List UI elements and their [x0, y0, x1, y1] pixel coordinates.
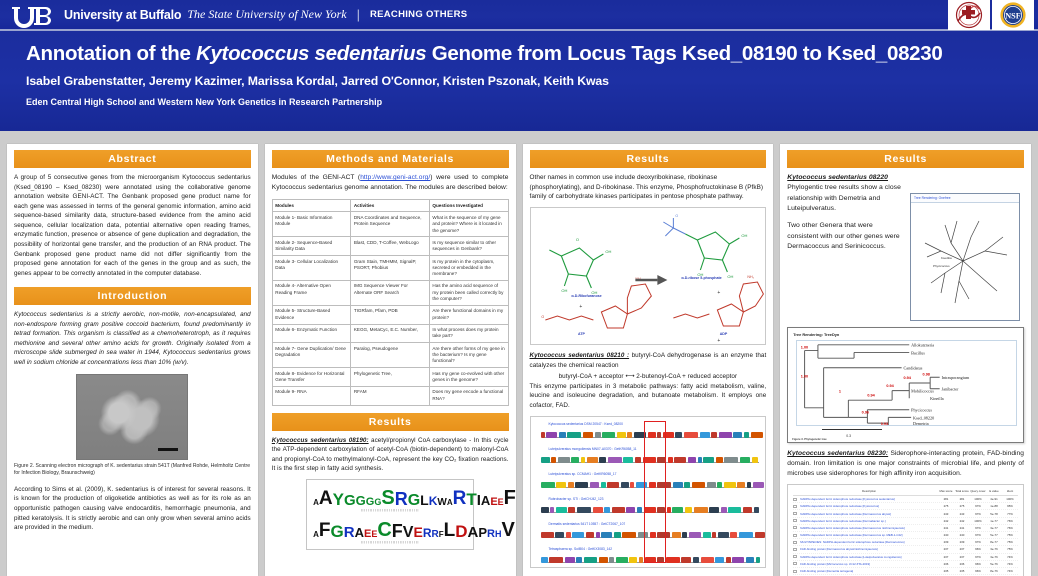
gene-arrow-glyph	[756, 557, 760, 563]
blast-row-checkbox[interactable]	[793, 570, 797, 573]
weblogo-letter: S	[381, 490, 394, 506]
poster-columns: Abstract A group of 5 consecutive genes …	[0, 137, 1038, 576]
gene-arrow-glyph	[728, 507, 741, 513]
table-row: Module 5- Structure-Based EvidenceTIGRfa…	[272, 305, 508, 324]
blast-value: 100%	[970, 497, 986, 501]
nsf-logo: NSF	[992, 0, 1034, 30]
table-cell: Does my gene encode a functional RNA?	[429, 386, 508, 405]
gene-arrow-glyph	[716, 457, 723, 463]
blast-value: 4e-91	[986, 497, 1002, 501]
gene-arrow-glyph	[556, 482, 566, 488]
blast-value: 237	[938, 547, 954, 551]
blast-col-query-cover: Query cover	[970, 489, 986, 493]
gene-arrow-glyph	[568, 482, 574, 488]
table-row: Module 1- Basic Information ModuleDNA Co…	[272, 212, 508, 237]
blast-value: 240	[954, 533, 970, 537]
svg-text:O: O	[575, 237, 578, 242]
blast-value: 76%	[1002, 519, 1018, 523]
section-heading-methods: Methods and Materials	[272, 150, 509, 168]
gene-08230-label: Kytococcus sedentarius 08230:	[787, 450, 888, 457]
blast-value: 3e-77	[986, 526, 1002, 530]
tree-bootstrap-1: 1.00	[801, 374, 808, 378]
gene-arrow-glyph	[724, 457, 738, 463]
geni-act-link[interactable]: http://www.geni-act.org/	[360, 174, 430, 181]
gene-arrow-glyph	[684, 482, 690, 488]
gene-arrow-glyph	[744, 432, 749, 438]
unrooted-tree-svg: Kseditia Phycicoccus	[911, 203, 1019, 313]
gene-arrow-glyph	[616, 557, 628, 563]
gene-arrow-glyph	[739, 532, 753, 538]
blast-value: 242	[938, 519, 954, 523]
blast-description-link[interactable]: FAD-binding protein [Micrococcus sp. JC1…	[800, 562, 938, 566]
gene-arrow-glyph	[715, 557, 724, 563]
chem-label-atp: ATP	[567, 332, 597, 336]
gene-arrow-glyph	[614, 532, 621, 538]
gene-arrow-glyph	[712, 532, 716, 538]
methods-intro-pre: Modules of the GENI-ACT (	[272, 174, 360, 181]
gene-arrow-glyph	[698, 457, 702, 463]
unrooted-tree-caption: Tree Rendering: Onefree	[911, 194, 1019, 203]
modules-table: Modules Activities Questions Investigate…	[272, 199, 509, 406]
tree-bootstrap-2: 1	[839, 390, 841, 394]
table-cell: Module 5- Structure-Based Evidence	[272, 305, 351, 324]
gene-arrow-glyph	[541, 482, 555, 488]
blast-result-row[interactable]: MULTISPECIES: NADPH-dependent ferric sid…	[793, 539, 1018, 546]
gene-arrow-glyph	[629, 557, 637, 563]
gene-neighborhood-organism: Luteipulveratus mongoliensis MN07-A0370 …	[549, 447, 637, 451]
blast-description-link[interactable]: FAD-binding protein [Demetria terragena]	[800, 569, 938, 573]
chem-label-ribose5p: α-D-ribose 5-phosphate	[657, 276, 747, 280]
blast-description-link[interactable]: NADPH-dependent ferric siderophore reduc…	[800, 555, 938, 559]
blast-result-row[interactable]: FAD-binding protein [Demetria terragena]…	[793, 568, 1018, 575]
tree-leaf-1: Bacillus	[911, 350, 925, 355]
ribokinase-intro: Other names in common use include deoxyr…	[530, 173, 767, 202]
blast-result-row[interactable]: FAD-binding protein [Micrococcus sp. JC1…	[793, 561, 1018, 568]
weblogo-letter: G	[366, 498, 375, 507]
poster-root: University at Buffalo The State Universi…	[0, 0, 1038, 576]
table-row: Module 6- Enzymatic FunctionKEGG, MetaCy…	[272, 324, 508, 343]
gene-arrow-glyph	[701, 557, 714, 563]
gene-arrow-glyph	[672, 507, 683, 513]
weblogo-letter: F	[392, 524, 403, 539]
unrooted-leaf-label-a: Kseditia	[941, 256, 952, 260]
blast-result-row[interactable]: NADPH-dependent ferric siderophore reduc…	[793, 518, 1018, 525]
plus-sign-left: +	[579, 304, 582, 310]
campaign-label: REACHING OTHERS	[370, 9, 467, 20]
blast-value: 75%	[1002, 533, 1018, 537]
weblogo-letter: G	[331, 525, 344, 539]
table-row: Module 2- Sequence-Based Similarity Data…	[272, 237, 508, 256]
poster-title-block: Annotation of the Kytococcus sedentarius…	[0, 31, 1038, 131]
blast-value: 275	[938, 504, 954, 508]
tree-leaf-8: Ksed_08220	[913, 415, 934, 420]
gene-arrow-glyph	[593, 507, 603, 513]
gene-arrow-glyph	[586, 532, 594, 538]
weblogo-letter: K	[429, 497, 438, 507]
blast-result-row[interactable]: NADPH-dependent ferric siderophore reduc…	[793, 510, 1018, 517]
gene-arrow-glyph	[595, 432, 601, 438]
blast-value: 240	[938, 533, 954, 537]
rooted-tree-svg: Allokutzneria Bacillus Candidatus Mobili…	[797, 341, 1016, 425]
table-row: Module 9- RNARFAMDoes my gene encode a f…	[272, 386, 508, 405]
gene-arrow-glyph	[581, 457, 585, 463]
weblogo-sequence-2: AFGRAEECFVERRFLDAPRHVETQCLADIHGNVV	[313, 517, 467, 539]
blast-value: 3e-76	[986, 547, 1002, 551]
blast-description-link[interactable]: NADPH-dependent ferric siderophore reduc…	[800, 512, 938, 516]
gene-arrow-glyph	[601, 532, 612, 538]
table-cell: Module 4- Alternative Open Reading Frame	[272, 280, 351, 305]
tree-leaf-0: Allokutzneria	[911, 343, 934, 348]
gene-arrow-glyph	[602, 432, 615, 438]
gene-arrow-glyph	[707, 482, 716, 488]
weblogo-letter: F	[504, 490, 516, 506]
rooted-tree-title: Tree Rendering: TreeDyn	[793, 332, 1018, 337]
weblogo-letter: R	[423, 529, 432, 539]
gene-08190-label: Kytococcus sedentarius 08190:	[272, 437, 369, 444]
blast-value: 8e-77	[986, 540, 1002, 544]
blast-value: 97%	[970, 504, 986, 508]
table-cell: Module 3- Cellular Localization Data	[272, 256, 351, 281]
gene-arrow-glyph	[709, 507, 719, 513]
blast-table-header: Description Max score Total score Query …	[793, 489, 1018, 496]
blast-value: 239	[938, 540, 954, 544]
section-heading-introduction: Introduction	[14, 287, 251, 305]
gene-arrow-glyph	[689, 532, 701, 538]
table-cell: KEGG, MetaCyc, E.C. Number,	[351, 324, 430, 343]
tree-leaf-2: Candidatus	[904, 366, 923, 371]
blast-value: 97%	[970, 540, 986, 544]
tree-leaf-3: Mobilicoccus	[911, 389, 934, 394]
blast-result-row[interactable]: NADPH-dependent ferric siderophore reduc…	[793, 503, 1018, 510]
table-row: Module 3- Cellular Localization DataGram…	[272, 256, 508, 281]
weblogo-letter: R	[487, 530, 495, 539]
table-cell: Is my sequence similar to other sequence…	[429, 237, 508, 256]
blast-value: 241	[938, 526, 954, 530]
gene-arrow-glyph	[703, 457, 714, 463]
svg-text:O: O	[675, 214, 678, 218]
sem-micrograph-image	[76, 374, 188, 460]
blast-value: 237	[954, 555, 970, 559]
weblogo-figure: AAYGGGGSRGLKWARTIAEEFIPELFRSANREAVI ||||…	[306, 479, 474, 550]
blast-value: 97%	[970, 555, 986, 559]
blast-result-row[interactable]: NADPH-dependent ferric siderophore reduc…	[793, 496, 1018, 503]
weblogo-letter: T	[466, 493, 476, 507]
gene-08210-text2: This enzyme participates in 3 metabolic …	[530, 382, 767, 411]
gene-arrow-glyph	[609, 557, 614, 563]
gene-arrow-glyph	[668, 457, 673, 463]
weblogo-sequence-1: AAYGGGGSRGLKWARTIAEEFIPELFRSANREAVI	[313, 485, 467, 507]
weblogo-letter: V	[501, 522, 514, 538]
table-row: Module 8- Evidence for Horizontal Gene T…	[272, 368, 508, 387]
table-cell: What is the sequence of my gene and prot…	[429, 212, 508, 237]
weblogo-letter: D	[455, 525, 467, 539]
tree-scale-bar	[822, 429, 882, 430]
weblogo-letter: Y	[333, 493, 344, 507]
weblogo-letter: A	[468, 527, 479, 539]
section-heading-abstract: Abstract	[14, 150, 251, 168]
sem-figure: Figure 2. Scanning electron micrograph o…	[14, 374, 251, 478]
table-cell: Module 8- Evidence for Horizontal Gene T…	[272, 368, 351, 387]
blast-value: 243	[954, 512, 970, 516]
blast-value: 239	[954, 540, 970, 544]
gene-arrow-glyph	[667, 507, 671, 513]
gene-arrow-glyph	[571, 457, 579, 463]
gene-highlight-box	[644, 421, 666, 563]
blast-row-checkbox[interactable]	[793, 519, 797, 522]
blast-row-checkbox[interactable]	[793, 512, 797, 515]
blast-value: 96%	[970, 562, 986, 566]
gene-08210-reaction: butyryl-CoA + acceptor ⟷ 2-butenoyl-CoA …	[530, 372, 767, 382]
table-row: Module 4- Alternative Open Reading Frame…	[272, 280, 508, 305]
blast-value: 1e-88	[986, 504, 1002, 508]
svg-text:NH₂: NH₂	[747, 275, 754, 279]
blast-value: 75%	[1002, 540, 1018, 544]
gene-neighborhood-organism: Tetrasphaera sp. Soil504 : GetKX3083_142	[549, 547, 613, 551]
blast-value: 235	[954, 569, 970, 573]
gene-arrow-glyph	[681, 557, 691, 563]
blast-description-link[interactable]: MULTISPECIES: NADPH-dependent ferric sid…	[800, 540, 938, 544]
blast-value: 5e-77	[986, 533, 1002, 537]
gene-arrow-glyph	[608, 457, 622, 463]
gene-arrow-glyph	[604, 507, 610, 513]
tree-leaf-5: Janibacter	[942, 387, 960, 392]
blast-value: 235	[938, 569, 954, 573]
blast-value: 95%	[1002, 504, 1018, 508]
gene-arrow-glyph	[717, 482, 722, 488]
table-cell: Module 7- Gene Duplication/ Gene Degrada…	[272, 343, 351, 368]
col-header-activities: Activities	[351, 200, 430, 212]
gene-arrow-glyph	[576, 557, 582, 563]
blast-value: 100%	[970, 519, 986, 523]
gene-arrow-glyph	[567, 432, 581, 438]
gene-arrow-glyph	[674, 457, 686, 463]
blast-description-link[interactable]: NADPH-dependent ferric siderophore reduc…	[800, 526, 938, 530]
blast-col-ident: Ident	[1002, 489, 1018, 493]
blast-description-link[interactable]: NADPH-dependent ferric siderophore reduc…	[800, 519, 938, 523]
gene-arrow-glyph	[559, 432, 566, 438]
gene-arrow-glyph	[541, 432, 545, 438]
table-cell: Has the amino acid sequence of my protei…	[429, 280, 508, 305]
table-cell: Module 9- RNA	[272, 386, 351, 405]
gene-arrow-glyph	[737, 482, 745, 488]
tree-scale-value: 0.3	[846, 434, 851, 438]
weblogo-letter: G	[408, 494, 420, 507]
gene-arrow-glyph	[673, 482, 683, 488]
blast-value: 236	[938, 562, 954, 566]
tree-leaf-7: Phycicoccus	[911, 408, 932, 413]
blast-value: 242	[954, 519, 970, 523]
gene-arrow-glyph	[732, 557, 744, 563]
gene-arrow-glyph	[617, 432, 626, 438]
gene-arrow-glyph	[682, 532, 687, 538]
university-header-bar: University at Buffalo The State Universi…	[0, 0, 1038, 31]
blast-value: 74%	[1002, 562, 1018, 566]
blast-result-row[interactable]: NADPH-dependent ferric siderophore reduc…	[793, 554, 1018, 561]
tree-leaf-4: Intrasporangium	[942, 375, 970, 380]
table-cell: Paralog, Pseudogene	[351, 343, 430, 368]
weblogo-letter: E	[490, 498, 497, 507]
gene-neighborhood-organism: Dermatis sedentarius 541T 10557 : GetCT2…	[549, 522, 626, 526]
university-name: University at Buffalo	[64, 8, 181, 22]
blast-value: 281	[938, 497, 954, 501]
gene-arrow-glyph	[541, 507, 549, 513]
gene-arrow-glyph	[575, 482, 588, 488]
gene-08190-description: Kytococcus sedentarius 08190: acetyl/pro…	[272, 436, 509, 474]
blast-row-checkbox[interactable]	[793, 548, 797, 551]
blast-description-link[interactable]: NADPH-dependent ferric siderophore reduc…	[800, 504, 938, 508]
blast-row-checkbox[interactable]	[793, 534, 797, 537]
table-cell: Are there functional domains in my prote…	[429, 305, 508, 324]
gene-arrow-glyph	[692, 482, 705, 488]
blast-value: 5e-78	[986, 512, 1002, 516]
table-cell: Is my protein in the cytoplasm, secreted…	[429, 256, 508, 281]
weblogo-axis-2: |||||||||||||||||||||||||||||||||	[313, 541, 467, 544]
figure-caption-2: Figure 2. Scanning electron micrograph o…	[14, 463, 251, 478]
introduction-paragraph-2: According to Sims et al. (2009), K. sede…	[14, 485, 251, 533]
weblogo-letter: R	[453, 491, 467, 507]
gene-arrow-glyph	[666, 557, 680, 563]
blast-value: 74%	[1002, 555, 1018, 559]
gene-arrow-glyph	[755, 532, 765, 538]
tree-leaf-9: Demetria	[913, 421, 929, 425]
weblogo-letter: E	[413, 527, 422, 538]
table-cell: Module 1- Basic Information Module	[272, 212, 351, 237]
section-heading-results-col4: Results	[787, 150, 1024, 168]
gene-arrow-glyph	[541, 457, 550, 463]
blast-result-row[interactable]: NADPH-dependent ferric siderophore reduc…	[793, 525, 1018, 532]
blast-row-checkbox[interactable]	[793, 526, 797, 529]
table-cell: Module 6- Enzymatic Function	[272, 324, 351, 343]
col-header-questions: Questions Investigated	[429, 200, 508, 212]
blast-value: 96%	[970, 569, 986, 573]
table-cell: IMG Sequence Viewer For Alternate ORF Se…	[351, 280, 430, 305]
gene-arrow-glyph	[599, 457, 606, 463]
blast-value: 236	[954, 562, 970, 566]
gene-arrow-glyph	[596, 532, 600, 538]
weblogo-letter: L	[444, 523, 456, 539]
abstract-text: A group of 5 consecutive genes from the …	[14, 173, 251, 278]
gene-arrow-glyph	[587, 457, 598, 463]
gene-arrow-glyph	[565, 557, 575, 563]
tree-bootstrap-4: 0.94	[887, 384, 895, 388]
column-methods-materials: Methods and Materials Modules of the GEN…	[265, 144, 516, 576]
title-organism: Kytococcus sedentarius	[196, 42, 426, 65]
blast-value: 281	[954, 497, 970, 501]
gene-arrow-glyph	[621, 482, 629, 488]
chem-label-ribofuranose: α-D-Ribofuranose	[553, 294, 621, 298]
svg-text:OH: OH	[741, 233, 747, 238]
weblogo-letter: L	[420, 495, 429, 506]
gene-arrow-glyph	[550, 507, 554, 513]
gene-arrow-glyph	[599, 557, 608, 563]
weblogo-axis-1: |||||||||||||||||||||||||||||||||	[313, 509, 467, 512]
blast-value: 76%	[1002, 526, 1018, 530]
gene-arrow-glyph	[719, 432, 732, 438]
blast-col-max-score: Max score	[938, 489, 954, 493]
gene-arrow-glyph	[637, 507, 642, 513]
gene-arrow-glyph	[577, 507, 591, 513]
wnygir-seal-logo	[948, 0, 990, 30]
blast-row-checkbox[interactable]	[793, 541, 797, 544]
gene-arrow-glyph	[700, 432, 710, 438]
gene-arrow-glyph	[558, 457, 570, 463]
blast-value: 3e-76	[986, 555, 1002, 559]
blast-results-figure: Description Max score Total score Query …	[787, 484, 1024, 576]
gene-arrow-glyph	[601, 482, 606, 488]
gene-neighborhood-organism: Kytococcus sedentarius DSM 20547 : Ksed_…	[549, 422, 623, 426]
gene-arrow-glyph	[751, 432, 763, 438]
blast-value: 275	[954, 504, 970, 508]
unrooted-leaf-label-b: Phycicoccus	[933, 264, 950, 268]
blast-row-checkbox[interactable]	[793, 562, 797, 565]
blast-result-row[interactable]: NADPH-dependent ferric siderophore reduc…	[793, 532, 1018, 539]
gene-arrow-glyph	[730, 532, 737, 538]
gene-arrow-glyph	[627, 432, 632, 438]
unrooted-tree-figure: Tree Rendering: Onefree Kseditia Phycico…	[910, 193, 1020, 321]
blast-description-link[interactable]: NADPH-dependent ferric siderophore reduc…	[800, 497, 938, 501]
gene-arrow-glyph	[747, 482, 751, 488]
blast-description-link[interactable]: NADPH-dependent ferric siderophore reduc…	[800, 533, 938, 537]
blast-row-checkbox[interactable]	[793, 555, 797, 558]
blast-value: 75%	[1002, 547, 1018, 551]
gene-arrow-glyph	[752, 457, 758, 463]
column-results-phylogeny: Results Kytococcus sedentarius 08220 Phy…	[780, 144, 1031, 576]
blast-value: 241	[954, 526, 970, 530]
table-cell: In what process does my protein take par…	[429, 324, 508, 343]
table-cell: Gram Stain, TMHMM, SignalP, PSORT, Phobi…	[351, 256, 430, 281]
gene-arrow-glyph	[711, 432, 717, 438]
svg-text:OH: OH	[605, 249, 611, 254]
weblogo-letter: G	[344, 495, 356, 507]
blast-value: 237	[954, 547, 970, 551]
gene-arrow-glyph	[724, 482, 736, 488]
blast-description-link[interactable]: FAD-binding protein [Dermacoccus abyssi/…	[800, 547, 938, 551]
gene-arrow-glyph	[541, 532, 554, 538]
gene-arrow-glyph	[639, 557, 643, 563]
table-cell: Phylogenetic Tree,	[351, 368, 430, 387]
blast-result-row[interactable]: FAD-binding protein [Dermacoccus abyssi/…	[793, 546, 1018, 553]
weblogo-letter: W	[437, 499, 446, 507]
gene-arrow-glyph	[672, 532, 681, 538]
title-part-pre: Annotation of the	[26, 42, 196, 65]
blast-col-total-score: Total score	[954, 489, 970, 493]
gene-arrow-glyph	[551, 457, 556, 463]
table-cell: Has my gene co-evolved with other genes …	[429, 368, 508, 387]
table-row: Module 7- Gene Duplication/ Gene Degrada…	[272, 343, 508, 368]
gene-arrow-glyph	[721, 507, 727, 513]
gene-arrow-glyph	[740, 457, 750, 463]
introduction-paragraph-1: Kytococcus sedentarius is a strictly aer…	[14, 310, 251, 367]
blast-row-checkbox[interactable]	[793, 505, 797, 508]
blast-row-checkbox[interactable]	[793, 498, 797, 501]
weblogo-letter: E	[515, 524, 516, 539]
chem-label-adp: ADP	[709, 332, 739, 336]
gene-arrow-glyph	[568, 507, 575, 513]
table-cell: RFAM	[351, 386, 430, 405]
gene-arrow-glyph	[566, 532, 571, 538]
table-cell: Module 2- Sequence-Based Similarity Data	[272, 237, 351, 256]
author-list: Isabel Grabenstatter, Jeremy Kazimer, Ma…	[26, 74, 1022, 88]
tree-bootstrap-8: 0.93	[881, 422, 888, 425]
gene-08210-label: Kytococcus sedentarius 08210 :	[530, 352, 630, 359]
blast-value: 1e-77	[986, 519, 1002, 523]
gene-arrow-glyph	[555, 532, 564, 538]
gene-arrow-glyph	[549, 557, 563, 563]
gene-08210-description: Kytococcus sedentarius 08210 : butyryl-C…	[530, 351, 767, 370]
gene-arrow-glyph	[684, 432, 698, 438]
section-heading-results-col2: Results	[272, 413, 509, 431]
tree-bootstrap-5: 0.94	[904, 376, 912, 380]
